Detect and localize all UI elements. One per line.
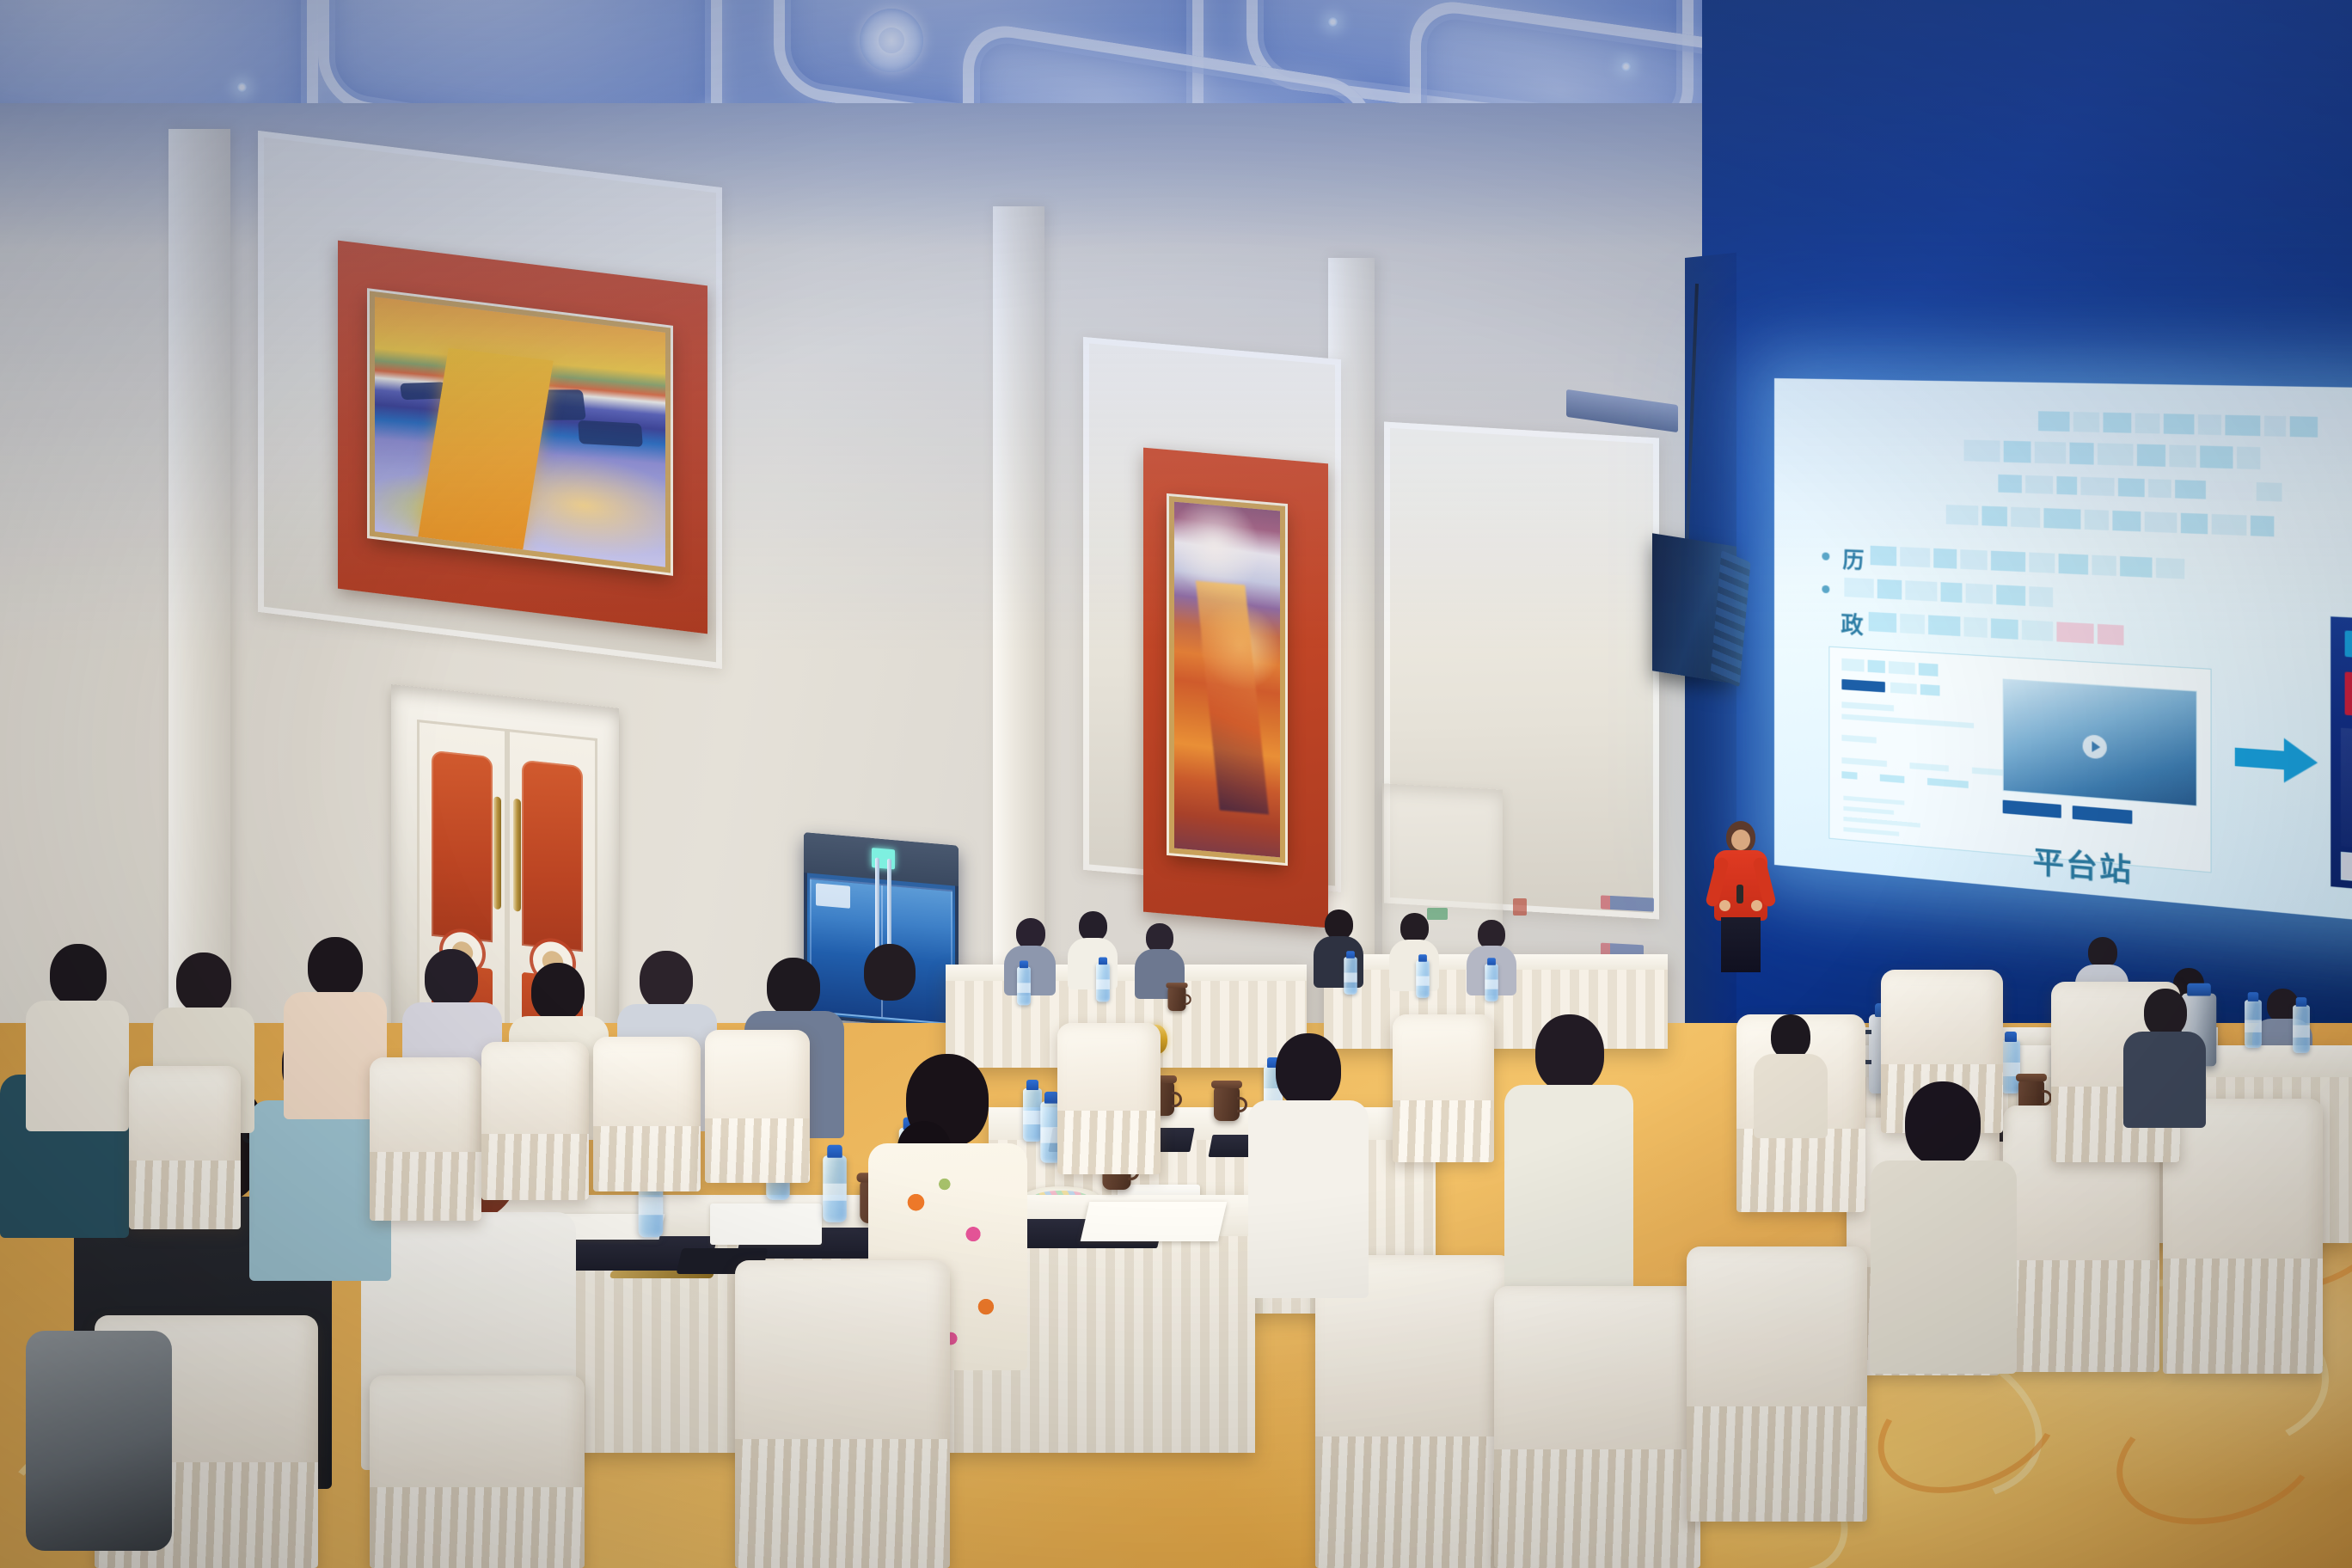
slide-glyph-1: 历 xyxy=(1842,542,1865,575)
backpack xyxy=(26,1331,172,1551)
banquet-chair[interactable] xyxy=(2163,1099,2323,1374)
banquet-chair[interactable] xyxy=(1057,1023,1161,1174)
folded-napkin xyxy=(710,1204,822,1245)
app-content-area xyxy=(2341,728,2352,860)
downlight xyxy=(1328,17,1338,27)
attendee xyxy=(26,944,129,1124)
door-panel xyxy=(432,750,493,943)
slide-caption: 平台站 xyxy=(2033,837,2134,891)
banquet-chair[interactable] xyxy=(705,1030,810,1183)
banquet-chair[interactable] xyxy=(370,1057,481,1221)
fire-alarm-icon xyxy=(1513,898,1527,916)
arrow-head-icon xyxy=(2284,738,2318,786)
projection-screen: 历 政 xyxy=(1774,378,2352,927)
clay-teacup xyxy=(1214,1087,1240,1121)
arrow-right-icon xyxy=(2235,748,2288,770)
slide-bullet xyxy=(1822,552,1829,560)
attendee xyxy=(1754,1014,1828,1135)
banquet-chair[interactable] xyxy=(735,1260,950,1568)
water-bottle xyxy=(2293,1005,2310,1053)
attendee xyxy=(2123,989,2206,1126)
app-banner-blue xyxy=(2345,630,2352,660)
attendee xyxy=(1504,1014,1633,1289)
door-panel xyxy=(522,760,583,952)
card-button-reserve[interactable] xyxy=(2073,805,2133,824)
banquet-chair[interactable] xyxy=(481,1042,589,1200)
wall-pilaster xyxy=(168,129,230,1057)
water-bottle xyxy=(1485,964,1498,1001)
wall-sign xyxy=(1601,895,1654,911)
banquet-chair[interactable] xyxy=(1315,1255,1513,1568)
attendee xyxy=(1871,1081,2017,1365)
handheld-microphone xyxy=(1736,885,1743,903)
presenter xyxy=(1709,821,1773,971)
wall-upper-shadow xyxy=(0,103,1702,249)
abstract-vertical-painting xyxy=(1169,496,1285,863)
play-icon[interactable] xyxy=(2082,734,2106,759)
downlight xyxy=(1621,62,1631,71)
abstract-landscape-painting xyxy=(370,291,671,573)
conference-hall-photo: 历 政 xyxy=(0,0,2352,1568)
ceiling-rosette xyxy=(860,9,923,72)
card-tag xyxy=(1841,679,1885,692)
banquet-chair[interactable] xyxy=(370,1375,585,1568)
downlight xyxy=(237,83,247,92)
attendee xyxy=(842,944,939,1112)
presenter-hand-left xyxy=(1719,900,1730,911)
water-bottle xyxy=(1096,964,1110,1002)
card-photo-thumbnail xyxy=(2003,679,2197,807)
water-bottle xyxy=(1416,960,1429,997)
app-bottom-bar xyxy=(2341,852,2352,895)
water-bottle xyxy=(1017,967,1031,1006)
web-listing-card xyxy=(1828,646,2211,873)
line-array-speaker xyxy=(1652,533,1736,684)
clay-teacup xyxy=(1168,987,1186,1011)
slide-bullet xyxy=(1822,585,1829,594)
door-handle[interactable] xyxy=(513,799,521,912)
attendee xyxy=(1389,913,1439,989)
card-button-consult[interactable] xyxy=(2003,800,2061,818)
presenter-hand-right xyxy=(1751,900,1762,911)
presenter-face xyxy=(1731,830,1750,850)
attendee xyxy=(1248,1033,1369,1291)
door-handle[interactable] xyxy=(493,797,501,910)
app-banner-red xyxy=(2345,671,2352,725)
notepad xyxy=(1081,1202,1228,1241)
water-bottle xyxy=(823,1155,847,1222)
attendee xyxy=(1068,911,1118,987)
water-bottle xyxy=(1344,957,1357,994)
presenter-legs xyxy=(1721,917,1761,972)
banquet-chair[interactable] xyxy=(129,1066,241,1229)
banquet-chair[interactable] xyxy=(1393,1014,1494,1162)
water-bottle xyxy=(2245,1000,2262,1048)
banquet-chair[interactable] xyxy=(593,1037,701,1191)
banquet-chair[interactable] xyxy=(1687,1246,1867,1522)
slide-glyph-2: 政 xyxy=(1841,607,1865,640)
banquet-chair[interactable] xyxy=(1494,1286,1700,1568)
mobile-app-mockup xyxy=(2330,616,2352,903)
fridge-label xyxy=(816,883,850,908)
